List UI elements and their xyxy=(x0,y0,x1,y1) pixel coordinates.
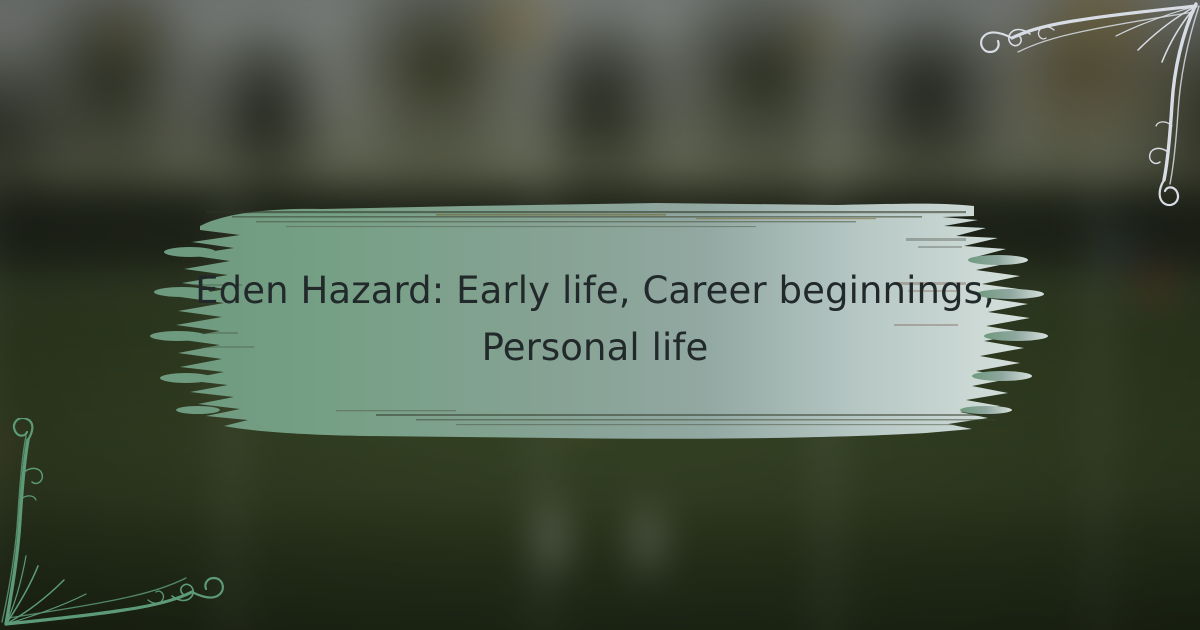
page-title: Eden Hazard: Early life, Career beginnin… xyxy=(190,262,1000,376)
social-share-card: Eden Hazard: Early life, Career beginnin… xyxy=(0,0,1200,630)
